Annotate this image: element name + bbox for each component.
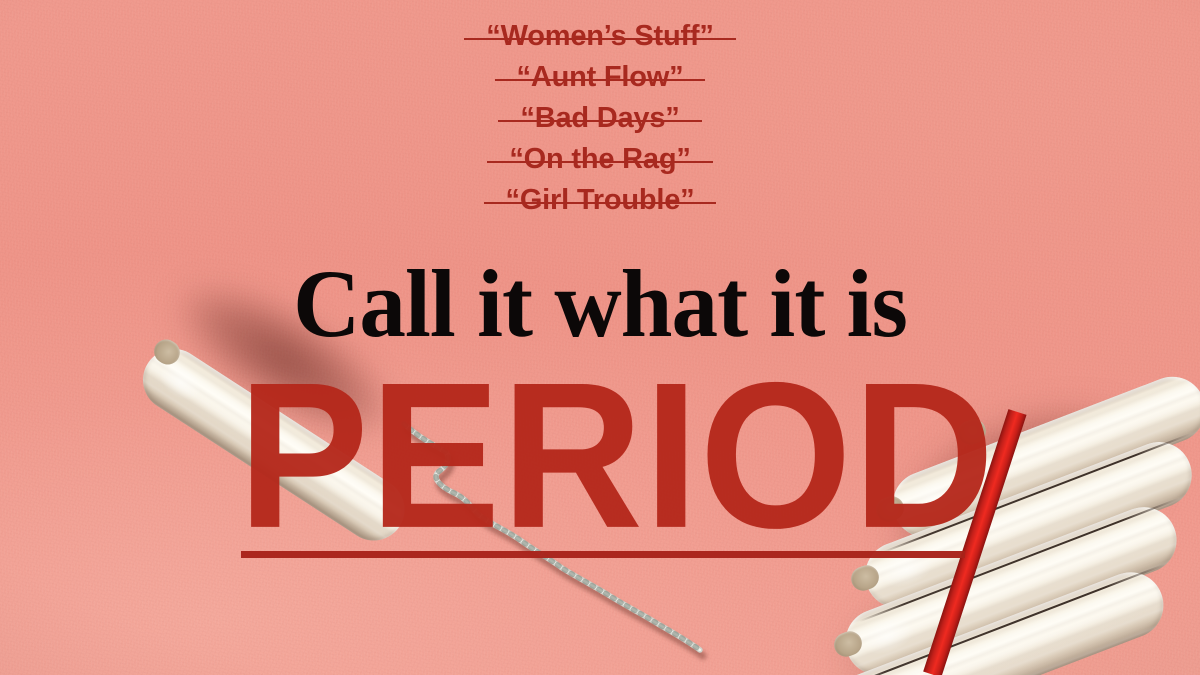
strikethrough-line (495, 79, 706, 81)
strikethrough-line (484, 202, 717, 204)
euphemism-row: “Aunt Flow” (0, 59, 1200, 100)
euphemism-text: “Girl Trouble” (506, 184, 695, 216)
euphemism-item-4: “On the Rag” (487, 141, 712, 178)
keyword-period: PERIOD (238, 352, 978, 560)
poster-canvas: “Women’s Stuff” “Aunt Flow” “Bad Days” “… (0, 0, 1200, 675)
horizontal-rule (241, 551, 965, 558)
euphemism-item-1: “Women’s Stuff” (464, 18, 735, 55)
euphemism-item-3: “Bad Days” (498, 100, 701, 137)
euphemism-row: “Girl Trouble” (0, 182, 1200, 223)
euphemism-item-2: “Aunt Flow” (495, 59, 706, 96)
strikethrough-line (498, 120, 701, 122)
euphemism-row: “On the Rag” (0, 141, 1200, 182)
euphemism-text: “On the Rag” (509, 143, 690, 175)
euphemism-row: “Women’s Stuff” (0, 18, 1200, 59)
euphemism-text: “Aunt Flow” (517, 61, 684, 93)
euphemism-list: “Women’s Stuff” “Aunt Flow” “Bad Days” “… (0, 18, 1200, 223)
strikethrough-line (487, 161, 712, 163)
euphemism-text: “Bad Days” (520, 102, 679, 134)
euphemism-text: “Women’s Stuff” (486, 20, 713, 52)
euphemism-row: “Bad Days” (0, 100, 1200, 141)
strikethrough-line (464, 38, 735, 40)
euphemism-item-5: “Girl Trouble” (484, 182, 717, 219)
